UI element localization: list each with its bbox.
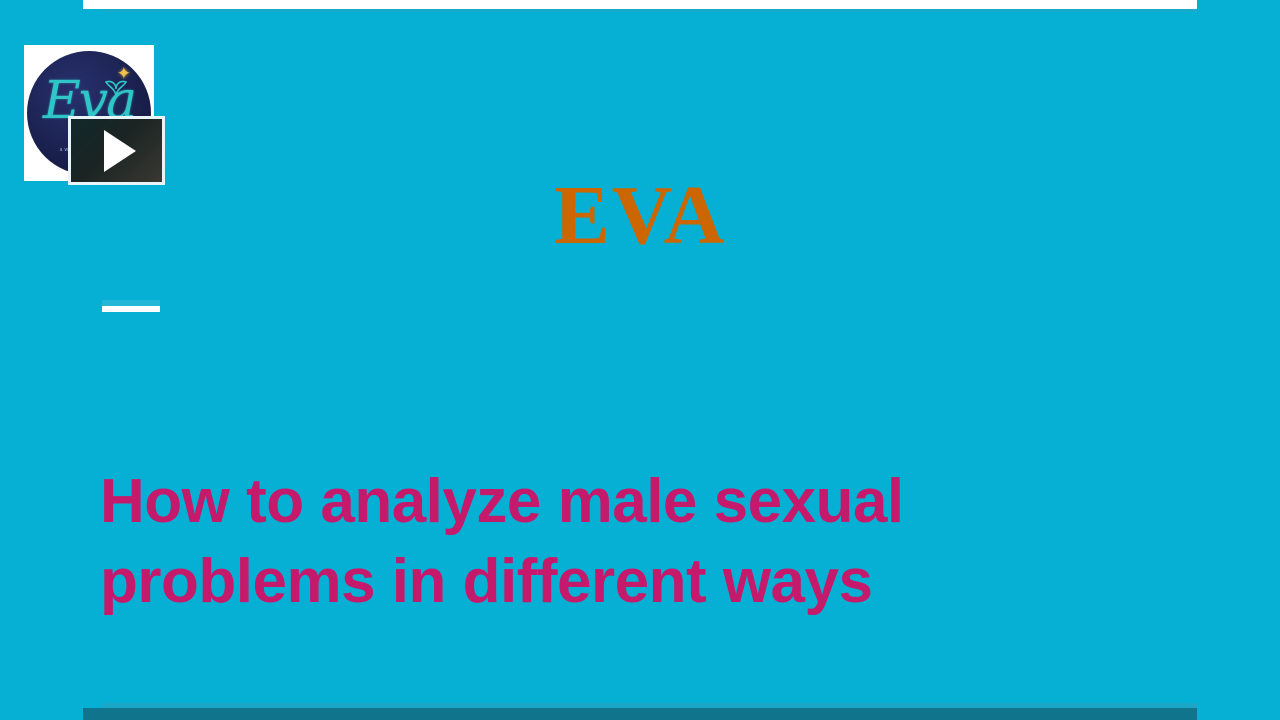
leaf-icon	[103, 75, 129, 99]
slide-top-band	[83, 0, 1197, 9]
page-title: EVA	[0, 168, 1280, 264]
slide-top-band-shadow	[102, 9, 1197, 12]
presentation-slide: Eva ✦ a women beauty brand EVA How to an…	[0, 0, 1280, 720]
slide-bottom-bar	[83, 708, 1197, 720]
slide-heading: How to analyze male sexual problems in d…	[100, 462, 1000, 622]
play-icon	[104, 130, 136, 172]
divider-dash	[102, 306, 160, 312]
